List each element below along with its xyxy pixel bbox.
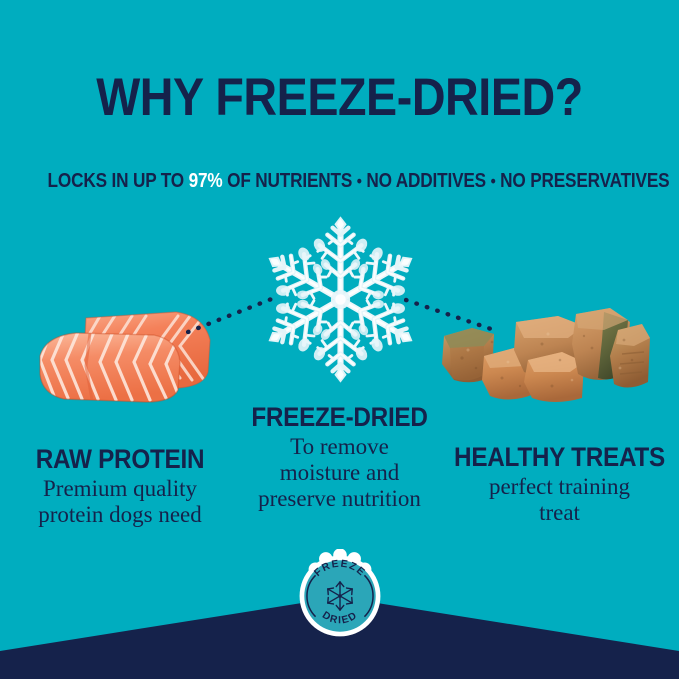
subheadline: LOCKS IN UP TO 97% OF NUTRIENTS • NO ADD…	[48, 169, 632, 194]
page-title: WHY FREEZE-DRIED?	[41, 70, 639, 126]
infographic-poster: WHY FREEZE-DRIED? LOCKS IN UP TO 97% OF …	[0, 0, 679, 679]
column-body-healthy-treats: perfect training treat	[440, 474, 679, 526]
subheadline-item-3: NO PRESERVATIVES	[496, 170, 670, 192]
snowflake-image	[253, 212, 428, 387]
column-healthy-treats: HEALTHY TREATS perfect training treat	[440, 442, 679, 526]
freeze-dried-treats-image	[432, 300, 652, 405]
subheadline-item-2: NO ADDITIVES	[362, 170, 491, 192]
column-raw-protein: RAW PROTEIN Premium quality protein dogs…	[0, 444, 240, 528]
column-body-freeze-dried: To remove moisture and preserve nutritio…	[222, 434, 457, 512]
subheadline-prefix: LOCKS IN UP TO	[48, 170, 189, 192]
column-body-raw-protein: Premium quality protein dogs need	[0, 476, 240, 528]
freeze-dried-badge: FREEZE DRIED	[293, 549, 387, 643]
column-heading-freeze-dried: FREEZE-DRIED	[234, 402, 446, 432]
column-heading-raw-protein: RAW PROTEIN	[12, 444, 228, 474]
column-heading-healthy-treats: HEALTHY TREATS	[452, 442, 667, 472]
subheadline-mid: OF NUTRIENTS	[223, 170, 357, 192]
nutrient-percent-value: 97%	[189, 170, 223, 192]
column-freeze-dried: FREEZE-DRIED To remove moisture and pres…	[222, 402, 457, 512]
